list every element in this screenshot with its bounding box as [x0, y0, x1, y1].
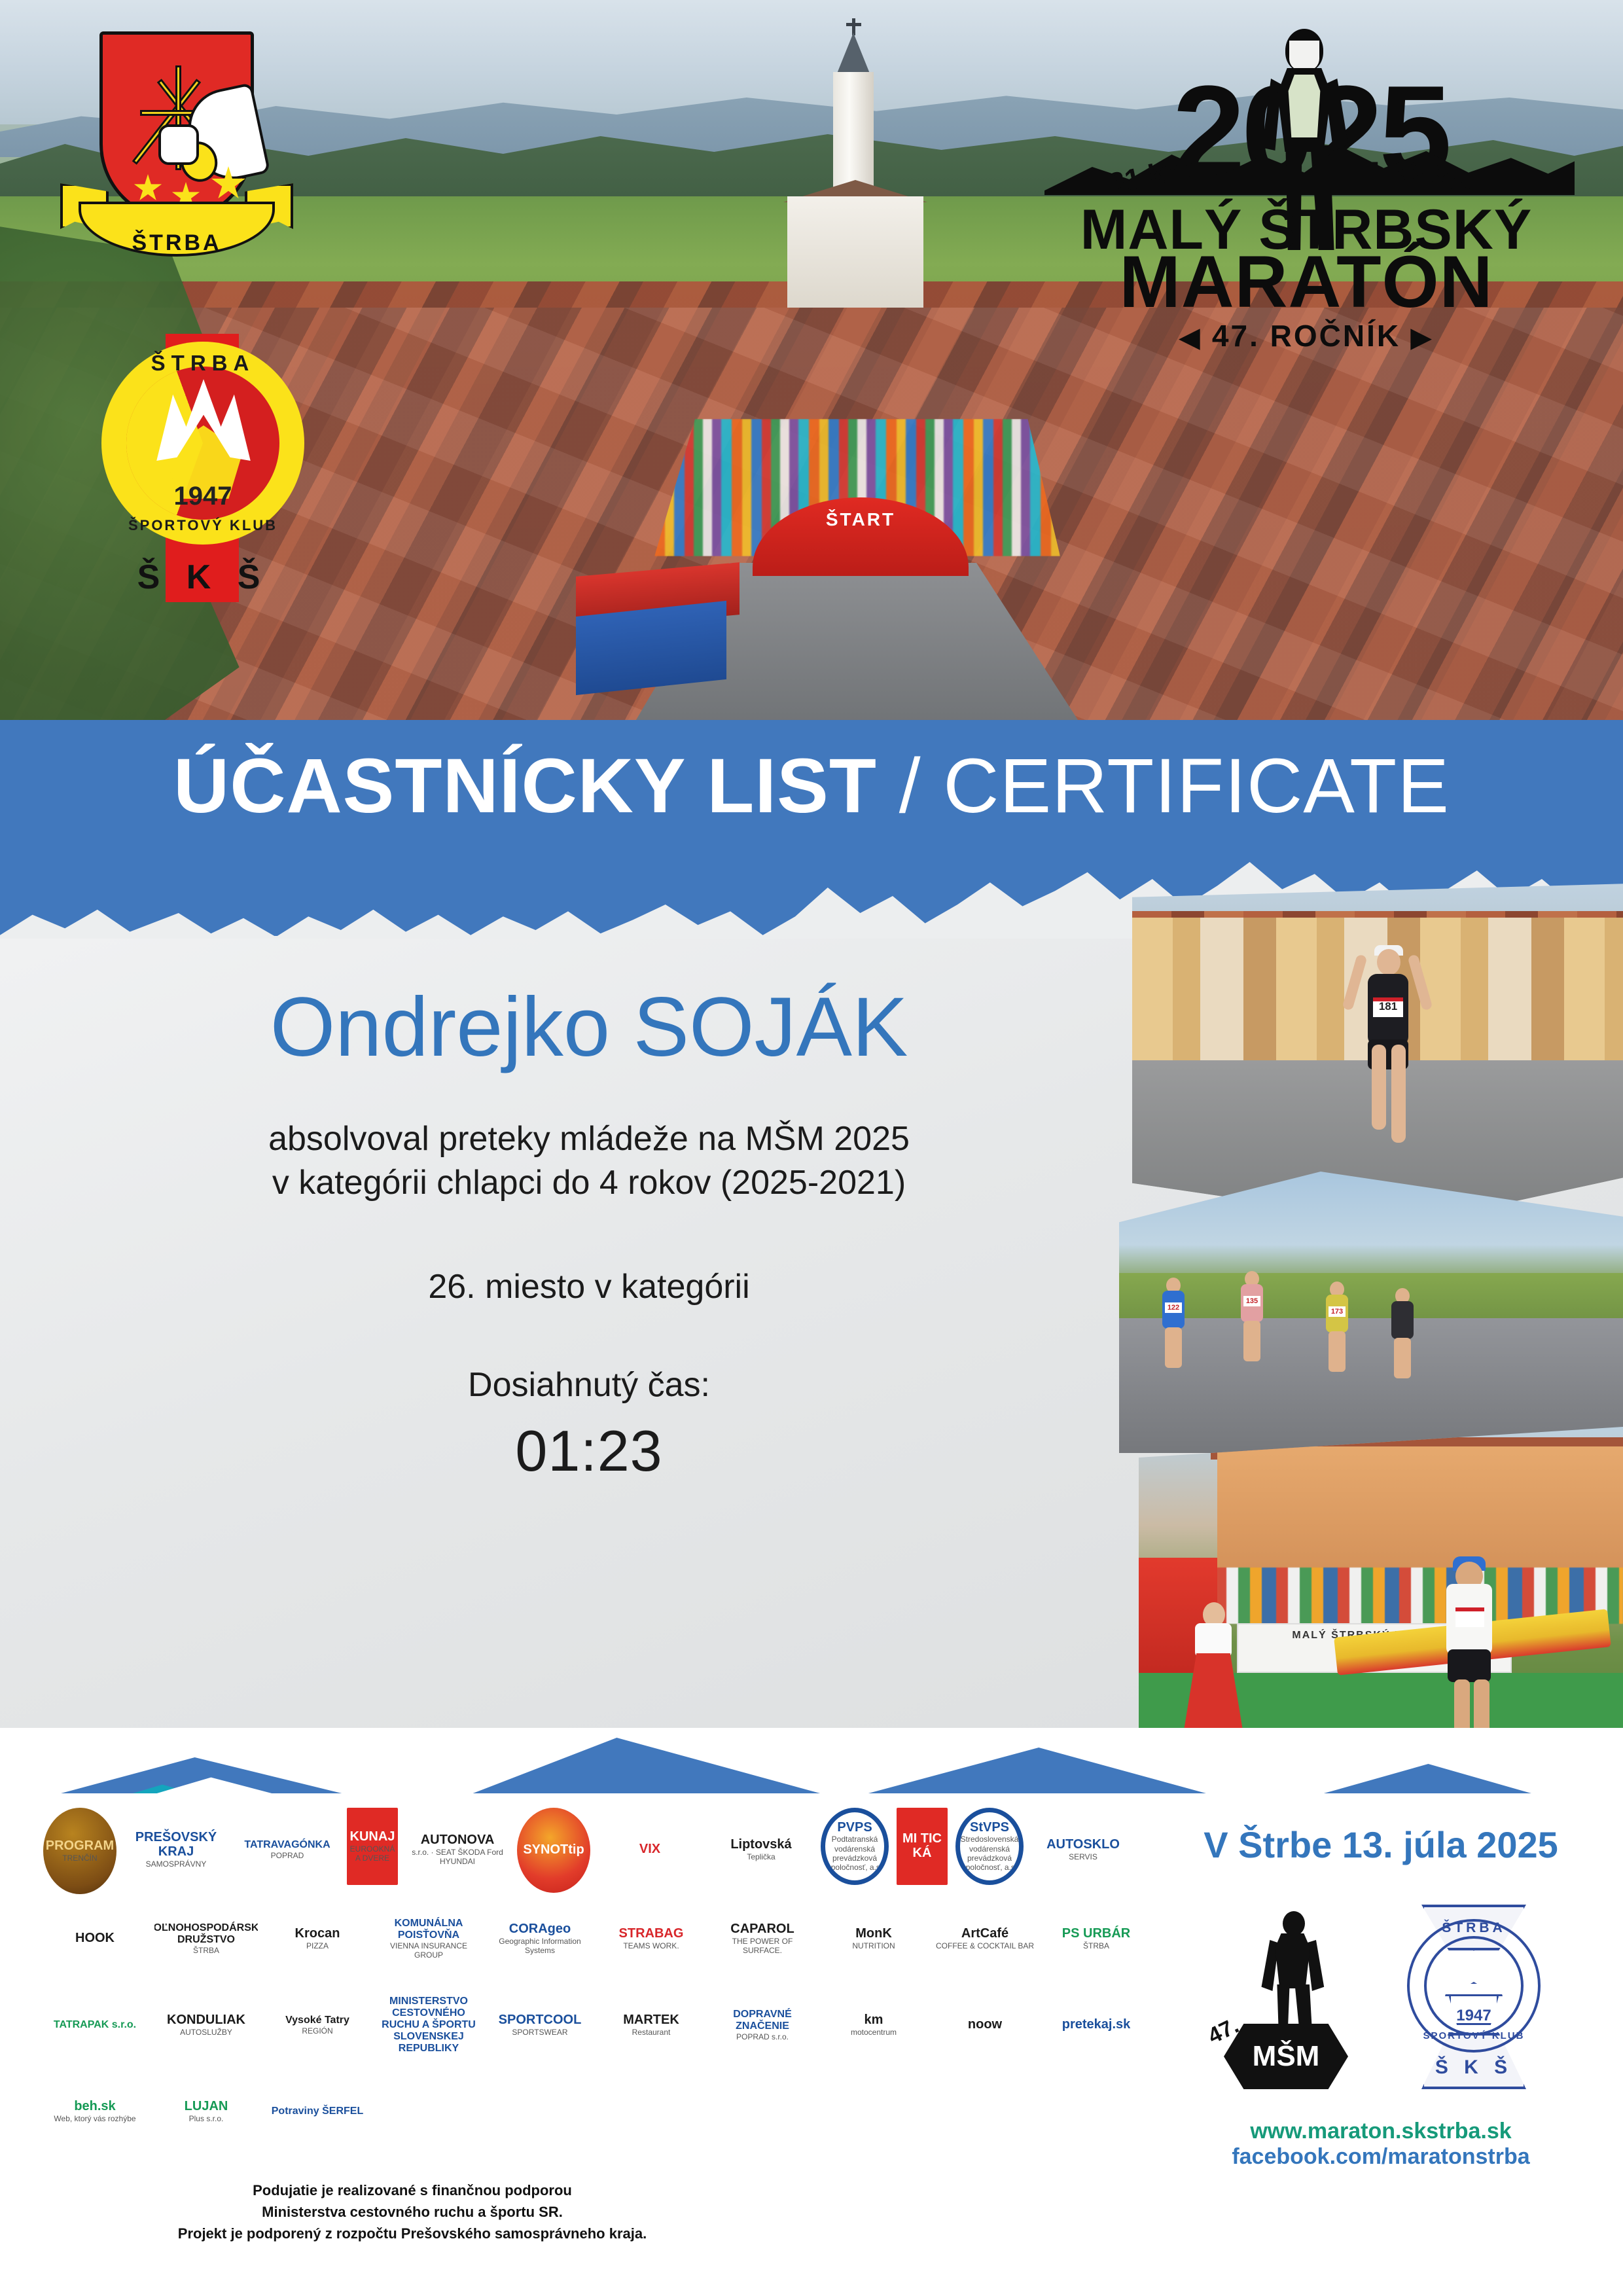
sponsor-tagline: Web, ktorý vás rozhýbe — [54, 2114, 135, 2123]
sponsor-tagline: motocentrum — [851, 2028, 897, 2037]
certificate-title-sk: ÚČASTNÍCKY LIST — [173, 743, 877, 829]
sks-top-text: ŠTRBA — [95, 351, 311, 376]
sponsor-footer: PROGRAMTRENČÍNPREŠOVSKÝKRAJSAMOSPRÁVNYTA… — [0, 1793, 1623, 2296]
sponsor-logo-grid: PROGRAMTRENČÍNPREŠOVSKÝKRAJSAMOSPRÁVNYTA… — [39, 1806, 1152, 2155]
msm-abbrev: MŠM — [1224, 2024, 1348, 2089]
sponsor-name: SPORTCOOL — [499, 2013, 582, 2028]
sponsor-name: MINISTERSTVO CESTOVNÉHO RUCHU A ŠPORTU S… — [382, 1996, 476, 2054]
sponsor-logo: PVPSPodtatranská vodárenská prevádzková … — [821, 1808, 889, 1885]
sponsor-logo: STRABAGTEAMS WORK. — [599, 1897, 703, 1981]
sponsor-tagline: POPRAD — [244, 1851, 330, 1860]
coat-fist — [158, 124, 199, 165]
photo2-runner-2-legs — [1243, 1321, 1260, 1361]
photo2-runner-2: 135 — [1237, 1270, 1267, 1361]
photo1-runner-leg-right — [1391, 1045, 1406, 1143]
sks-stamp-top-text: ŠTRBA — [1395, 1920, 1552, 1936]
race-edition: ◀ 47. ROČNÍK ▶ — [1018, 318, 1594, 353]
participant-name: Ondrejko SOJÁK — [79, 982, 1099, 1074]
sponsor-name: HOOK — [75, 1931, 115, 1946]
photo2-runner-3: 173 — [1322, 1280, 1352, 1372]
sponsor-name: CORAgeo — [490, 1922, 590, 1937]
certificate-title: ÚČASTNÍCKY LIST / CERTIFICATE — [0, 746, 1623, 827]
hero-photo-banner: ŠTART ŠTRBA ŠTRBA 1947 ŠPORTOVÝ KLUB Š K… — [0, 0, 1623, 733]
sponsor-logo: MARTEKRestaurant — [599, 1983, 703, 2067]
sponsor-tagline: SAMOSPRÁVNY — [135, 1859, 217, 1869]
sponsor-logo: LUJANPlus s.r.o. — [154, 2070, 258, 2153]
sks-stamp-year: 1947 — [1395, 2007, 1552, 2025]
sponsor-tagline: THE POWER OF SURFACE. — [712, 1937, 813, 1955]
photo2-runner-1-bib: 122 — [1165, 1302, 1182, 1313]
sponsor-logo: KOMUNÁLNA POISŤOVŇAVIENNA INSURANCE GROU… — [377, 1897, 480, 1981]
sponsor-logo: PROGRAMTRENČÍN — [43, 1808, 116, 1894]
msm-runner-head — [1283, 1911, 1305, 1936]
certificate-content: Ondrejko SOJÁK absolvoval preteky mládež… — [79, 982, 1099, 1484]
sponsor-logo: TATRAPAK s.r.o. — [43, 1983, 147, 2067]
sponsor-name: VIX — [639, 1842, 660, 1857]
sponsor-logo: AUTONOVAs.r.o. · SEAT ŠKODA Ford HYUNDAI — [406, 1808, 509, 1892]
time-value: 01:23 — [79, 1418, 1099, 1484]
achievement-line-2: v kategórii chlapci do 4 rokov (2025-202… — [79, 1161, 1099, 1206]
sponsor-tagline: SERVIS — [1046, 1852, 1120, 1861]
sponsor-name: PROGRAM — [46, 1839, 114, 1854]
sponsor-name: MARTEK — [623, 2013, 679, 2028]
msm-runner-torso — [1274, 1933, 1311, 1988]
edition-arrow-left: ◀ — [1179, 323, 1202, 352]
funding-notice: Podujatie je realizované s finančnou pod… — [52, 2179, 772, 2244]
blue-tent — [576, 601, 726, 695]
photo-collage: 181 122 135 173 — [1113, 884, 1623, 1728]
sponsor-logo: KUNAJEUROOKNÁ A DVERE — [347, 1808, 398, 1885]
sponsor-name: ArtCafé — [936, 1927, 1034, 1941]
date-and-place: V Štrbe 13. júla 2025 — [1165, 1823, 1597, 1866]
sponsor-name: POĽNOHOSPODÁRSKE DRUŽSTVO — [154, 1922, 258, 1945]
sponsor-tagline: SPORTSWEAR — [499, 2028, 582, 2037]
sponsor-logo: KrocanPIZZA — [266, 1897, 369, 1981]
msm-mark: 47. MŠM — [1209, 1909, 1360, 2092]
sponsor-name: LUJAN — [185, 2100, 228, 2114]
sponsor-name: KOMUNÁLNA POISŤOVŇA — [395, 1918, 463, 1941]
sponsor-name: MonK — [852, 1927, 895, 1941]
photo2-runner-1: 122 — [1158, 1276, 1188, 1368]
start-arch: ŠTART — [753, 497, 969, 576]
sponsor-name: Krocan — [295, 1927, 340, 1941]
photo1-runner-bib-number: 181 — [1373, 1000, 1403, 1013]
certificate-title-en: CERTIFICATE — [943, 743, 1450, 829]
sponsor-logo: Vysoké TatryREGIÓN — [266, 1983, 369, 2067]
photo-finishing-female-runner: 181 — [1132, 884, 1623, 1224]
sponsor-logo: DOPRAVNÉ ZNAČENIEPOPRAD s.r.o. — [711, 1983, 814, 2067]
sponsor-logo: ArtCaféCOFFEE & COCKTAIL BAR — [933, 1897, 1037, 1981]
sponsor-tagline: s.r.o. · SEAT ŠKODA Ford HYUNDAI — [407, 1848, 508, 1866]
photo2-runner-3-legs — [1329, 1331, 1346, 1372]
msm-diamond: MŠM — [1224, 2024, 1348, 2089]
sponsor-tagline: VIENNA INSURANCE GROUP — [378, 1941, 479, 1960]
sponsor-name: AUTOSKLO — [1046, 1838, 1120, 1852]
church-building — [815, 33, 893, 308]
photo1-runner-head — [1377, 949, 1400, 975]
sponsor-logo: noow — [933, 1983, 1037, 2067]
sponsor-name: pretekaj.sk — [1062, 2018, 1131, 2032]
sponsor-tagline: AUTOSLUŽBY — [167, 2028, 245, 2037]
sponsor-tagline: ŠTRBA — [1062, 1941, 1130, 1950]
placement-text: 26. miesto v kategórii — [79, 1267, 1099, 1306]
sponsor-name: StVPS — [961, 1821, 1019, 1835]
photo1-runner: 181 — [1348, 935, 1427, 1183]
sponsor-name: CAPAROL — [712, 1922, 813, 1937]
church-nave — [787, 196, 923, 308]
sponsor-logo: PS URBÁRŠTRBA — [1044, 1897, 1148, 1981]
sponsor-logo: MonKNUTRITION — [822, 1897, 925, 1981]
funding-notice-line-1: Podujatie je realizované s finančnou pod… — [52, 2179, 772, 2201]
sks-club-logo: ŠTRBA 1947 ŠPORTOVÝ KLUB Š K Š — [95, 327, 311, 609]
sponsor-name: noow — [968, 2018, 1002, 2032]
sponsor-tagline: Stredoslovenská vodárenská prevádzková s… — [961, 1835, 1019, 1872]
sks-bottom-text: ŠPORTOVÝ KLUB — [95, 517, 311, 534]
sponsor-name: KUNAJ — [348, 1830, 397, 1844]
sponsor-name: Vysoké Tatry — [285, 2015, 349, 2026]
sponsor-tagline: NUTRITION — [852, 1941, 895, 1950]
coat-ribbon: ŠTRBA — [59, 183, 294, 262]
photo2-runner-4 — [1387, 1287, 1418, 1378]
sponsor-tagline: Geographic Information Systems — [490, 1937, 590, 1955]
sponsor-logo: TATRAVAGÓNKAPOPRAD — [236, 1808, 339, 1892]
photo1-runner-leg-left — [1372, 1045, 1386, 1130]
sponsor-name: DOPRAVNÉ ZNAČENIE — [733, 2009, 792, 2032]
sponsor-tagline: TEAMS WORK. — [619, 1941, 684, 1950]
sponsor-logo: beh.skWeb, ktorý vás rozhýbe — [43, 2070, 147, 2153]
sponsor-logo: kmmotocentrum — [822, 1983, 925, 2067]
time-label: Dosiahnutý čas: — [79, 1365, 1099, 1405]
photo2-runner-2-bib: 135 — [1243, 1296, 1260, 1306]
sponsor-name: Potraviny ŠERFEL — [272, 2106, 363, 2117]
sponsor-tagline: POPRAD s.r.o. — [712, 2032, 813, 2041]
sponsor-logo: pretekaj.sk — [1044, 1983, 1148, 2067]
race-logo-mark: 2025 31 km 10 km MALÝ ŠTRBSKÝ MARATÓN ◀ … — [1018, 22, 1594, 297]
photo-group-of-runners: 122 135 173 — [1119, 1172, 1623, 1453]
sponsor-logo: StVPSStredoslovenská vodárenská prevádzk… — [955, 1808, 1024, 1885]
sponsor-name-2: KRAJ — [135, 1845, 217, 1859]
sponsor-logo: VIX — [598, 1808, 702, 1892]
sponsor-logo: KONDULIAKAUTOSLUŽBY — [154, 1983, 258, 2067]
sponsor-logo: SPORTCOOLSPORTSWEAR — [488, 1983, 592, 2067]
sks-stamp: ŠTRBA 1947 ŠPORTOVÝ KLUB Š K Š — [1395, 1909, 1552, 2092]
sponsor-tagline: REGIÓN — [285, 2026, 349, 2036]
sponsor-tagline: ŠTRBA — [154, 1946, 258, 1955]
sponsor-name: Liptovská — [730, 1838, 791, 1852]
strba-coat-of-arms: ŠTRBA — [59, 26, 294, 288]
sponsor-tagline: PIZZA — [295, 1941, 340, 1950]
sponsor-tagline: EUROOKNÁ A DVERE — [348, 1844, 397, 1863]
sponsor-logo: PREŠOVSKÝKRAJSAMOSPRÁVNY — [124, 1808, 228, 1892]
sponsor-tagline: Teplička — [730, 1852, 791, 1861]
achievement-line-1: absolvoval preteky mládeže na MŠM 2025 — [79, 1117, 1099, 1162]
msm-runner-icon — [1257, 1911, 1329, 2042]
sponsor-logo: CORAgeoGeographic Information Systems — [488, 1897, 592, 1981]
sponsor-logo: POĽNOHOSPODÁRSKE DRUŽSTVOŠTRBA — [154, 1897, 258, 1981]
edition-arrow-right: ▶ — [1411, 323, 1433, 352]
photo2-runner-4-top — [1391, 1301, 1414, 1339]
sponsor-tagline: Plus s.r.o. — [185, 2114, 228, 2123]
runner-vest — [1285, 75, 1323, 137]
edition-label: 47. ROČNÍK — [1212, 319, 1400, 353]
sponsor-tagline: COFFEE & COCKTAIL BAR — [936, 1941, 1034, 1950]
photo3-winner-bib — [1455, 1607, 1484, 1627]
photo2-runner-group: 122 135 173 — [1158, 1270, 1486, 1394]
sponsor-logo: LiptovskáTeplička — [709, 1808, 813, 1892]
sponsor-logo: SYNOTtip — [517, 1808, 590, 1893]
footer-right-column: V Štrbe 13. júla 2025 47. MŠM — [1165, 1806, 1597, 2170]
sponsor-logo: Potraviny ŠERFEL — [266, 2070, 369, 2153]
sponsor-logo: MINISTERSTVO CESTOVNÉHO RUCHU A ŠPORTU S… — [377, 1983, 480, 2067]
certificate-title-separator: / — [877, 743, 943, 829]
sponsor-name: PREŠOVSKÝ — [135, 1831, 217, 1845]
sponsor-name: PVPS — [827, 1821, 883, 1835]
photo3-folk-blouse — [1195, 1623, 1232, 1657]
sponsor-name: km — [851, 2013, 897, 2028]
sks-year: 1947 — [95, 482, 311, 511]
sponsor-name: MI TIC KÁ — [898, 1832, 946, 1860]
sponsor-tagline: TRENČÍN — [46, 1854, 114, 1863]
sponsor-name: PS URBÁR — [1062, 1927, 1130, 1941]
sks-stamp-bottom-text: Š K Š — [1395, 2056, 1552, 2079]
race-title-line2: MARATÓN — [1018, 240, 1594, 324]
footer-marks: 47. MŠM ŠTRBA 1947 ŠPORTOVÝ KLUB Š K Š — [1165, 1905, 1597, 2095]
sponsor-logo: CAPAROLTHE POWER OF SURFACE. — [711, 1897, 814, 1981]
photo2-runner-1-legs — [1165, 1327, 1182, 1368]
coat-ribbon-text: ŠTRBA — [59, 230, 294, 256]
sponsor-logo: MI TIC KÁ — [897, 1808, 948, 1885]
sponsor-name: STRABAG — [619, 1927, 684, 1941]
runner-arm-left — [1255, 79, 1281, 151]
funding-notice-line-2: Ministerstva cestovného ruchu a športu S… — [52, 2201, 772, 2223]
sponsor-name: AUTONOVA — [407, 1833, 508, 1848]
sponsor-tagline: Restaurant — [623, 2028, 679, 2037]
sponsor-tagline: Podtatranská vodárenská prevádzková spol… — [827, 1835, 883, 1872]
sks-stamp-mid-text: ŠPORTOVÝ KLUB — [1395, 2030, 1552, 2041]
facebook-link[interactable]: facebook.com/maratonstrba — [1165, 2144, 1597, 2170]
sponsor-name: beh.sk — [54, 2100, 135, 2114]
sponsor-name: SYNOTtip — [523, 1843, 584, 1857]
runner-face — [1289, 41, 1319, 71]
sponsor-logo: HOOK — [43, 1897, 147, 1981]
sponsor-logo: AUTOSKLOSERVIS — [1031, 1808, 1135, 1892]
funding-notice-line-3: Projekt je podporený z rozpočtu Prešovsk… — [52, 2223, 772, 2244]
photo2-runner-3-bib: 173 — [1329, 1306, 1346, 1317]
sponsor-name: KONDULIAK — [167, 2013, 245, 2028]
photo2-runner-4-legs — [1394, 1338, 1411, 1378]
sks-abbrev: Š K Š — [95, 558, 311, 597]
sponsor-name: TATRAPAK s.r.o. — [54, 2019, 136, 2030]
sponsor-name: TATRAVAGÓNKA — [244, 1839, 330, 1850]
website-link[interactable]: www.maraton.skstrba.sk — [1165, 2119, 1597, 2144]
start-arch-label: ŠTART — [753, 509, 969, 530]
